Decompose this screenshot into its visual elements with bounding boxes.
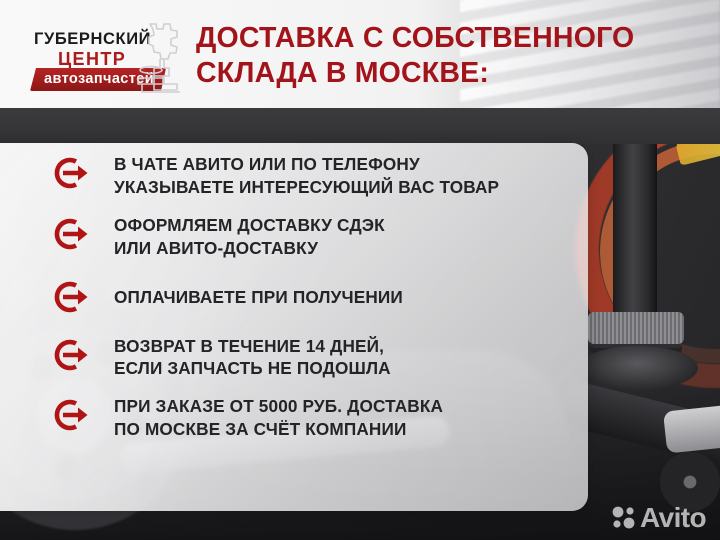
list-item-text: ОПЛАЧИВАЕТЕ ПРИ ПОЛУЧЕНИИ [114, 285, 403, 309]
logo-line-centr: ЦЕНТР [58, 49, 126, 70]
list-item-text: В ЧАТЕ АВИТО ИЛИ ПО ТЕЛЕФОНУ УКАЗЫВАЕТЕ … [114, 152, 499, 199]
header-band: ГУБЕРНСКИЙ ЦЕНТР автозапчастей ДОСТАВКА … [0, 0, 720, 108]
arrow-right-circle-icon [52, 278, 92, 316]
list-item: ОПЛАЧИВАЕТЕ ПРИ ПОЛУЧЕНИИ [52, 274, 572, 320]
arrow-right-circle-icon [52, 336, 92, 374]
arrow-right-circle-icon [52, 215, 92, 253]
avito-dots-icon [611, 505, 637, 531]
avito-wordmark: Avito [640, 504, 706, 532]
list-item: В ЧАТЕ АВИТО ИЛИ ПО ТЕЛЕФОНУ УКАЗЫВАЕТЕ … [52, 152, 572, 199]
arrow-right-circle-icon [52, 396, 92, 434]
background-hub-flange [578, 346, 698, 390]
company-logo[interactable]: ГУБЕРНСКИЙ ЦЕНТР автозапчастей [22, 16, 182, 96]
list-item: ВОЗВРАТ В ТЕЧЕНИЕ 14 ДНЕЙ, ЕСЛИ ЗАПЧАСТЬ… [52, 334, 572, 381]
arrow-right-circle-icon [52, 154, 92, 192]
page-title: ДОСТАВКА С СОБСТВЕННОГО СКЛАДА В МОСКВЕ: [196, 21, 696, 91]
engine-outline-icon [130, 18, 188, 98]
advert-banner: ГУБЕРНСКИЙ ЦЕНТР автозапчастей ДОСТАВКА … [0, 0, 720, 540]
list-item: ОФОРМЛЯЕМ ДОСТАВКУ СДЭК ИЛИ АВИТО-ДОСТАВ… [52, 213, 572, 260]
list-item: ПРИ ЗАКАЗЕ ОТ 5000 РУБ. ДОСТАВКА ПО МОСК… [52, 394, 572, 441]
list-item-text: ПРИ ЗАКАЗЕ ОТ 5000 РУБ. ДОСТАВКА ПО МОСК… [114, 394, 443, 441]
background-roller [663, 404, 720, 453]
steps-list: В ЧАТЕ АВИТО ИЛИ ПО ТЕЛЕФОНУ УКАЗЫВАЕТЕ … [52, 152, 572, 455]
list-item-text: ВОЗВРАТ В ТЕЧЕНИЕ 14 ДНЕЙ, ЕСЛИ ЗАПЧАСТЬ… [114, 334, 391, 381]
avito-watermark: Avito [611, 504, 706, 532]
list-item-text: ОФОРМЛЯЕМ ДОСТАВКУ СДЭК ИЛИ АВИТО-ДОСТАВ… [114, 213, 385, 260]
background-knurled-nut [588, 312, 684, 344]
divider-bar [0, 108, 720, 144]
